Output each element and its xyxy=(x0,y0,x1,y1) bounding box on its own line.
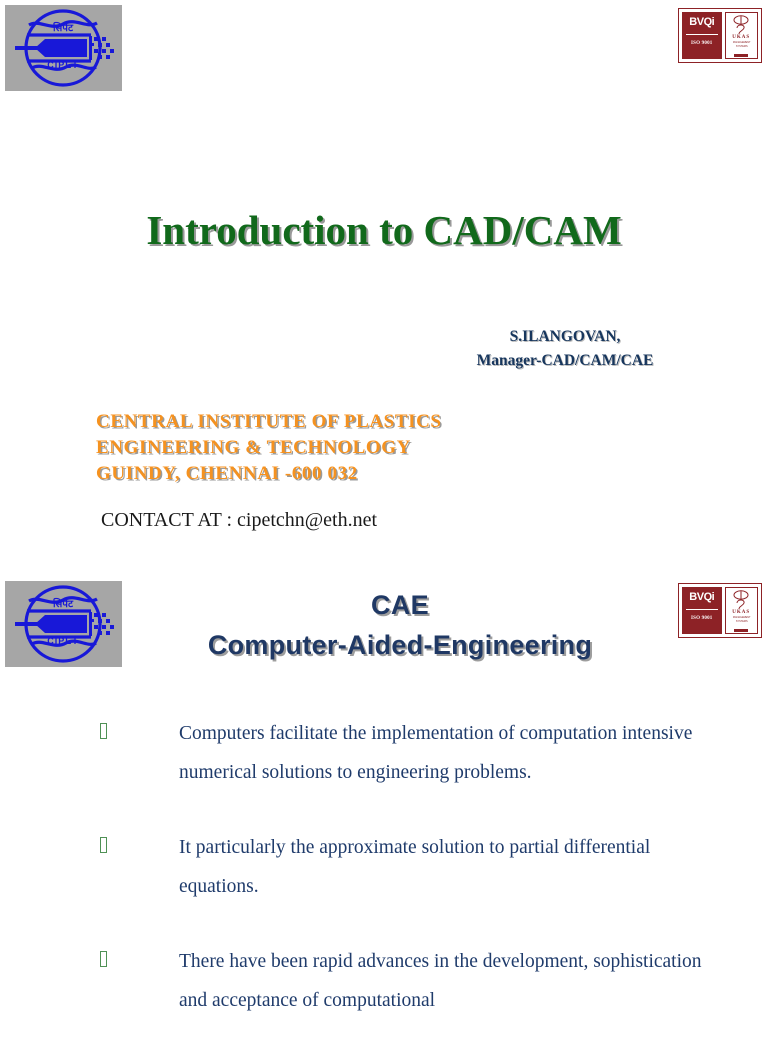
cipet-logo-top: सिपेट CIPET xyxy=(5,5,122,91)
list-item: There have been rapid advances in the de… xyxy=(0,942,768,1020)
bvqi-divider xyxy=(686,34,718,35)
slide2-heading-line-1: CAE xyxy=(134,586,666,626)
list-item: Computers facilitate the implementation … xyxy=(0,714,768,792)
bullet-marker-icon xyxy=(100,942,122,971)
slide2-bullet-list: Computers facilitate the implementation … xyxy=(0,714,768,1056)
ukas-sublabel: MANAGEMENT SYSTEMS xyxy=(726,41,756,48)
slide2-heading-line-2: Computer-Aided-Engineering xyxy=(134,626,666,666)
institute-line-1: CENTRAL INSTITUTE OF PLASTICS xyxy=(96,409,442,435)
institute-line-2: ENGINEERING & TECHNOLOGY xyxy=(96,435,442,461)
institute-line-3: GUINDY, CHENNAI -600 032 xyxy=(96,461,442,487)
ukas-number-bar-bottom xyxy=(734,629,748,632)
bvqi-brand-text-bottom: BVQi xyxy=(689,592,714,603)
ukas-crown-icon-bottom xyxy=(729,590,753,610)
cipet-logo-artwork-bottom: सिपेट CIPET xyxy=(5,581,122,667)
bvqi-brand-text: BVQi xyxy=(689,17,714,28)
ukas-sublabel-bottom: MANAGEMENT SYSTEMS xyxy=(726,616,756,623)
bullet-text: Computers facilitate the implementation … xyxy=(179,714,718,792)
contact-line: CONTACT AT : cipetchn@eth.net xyxy=(101,509,377,532)
author-block: S.ILANGOVAN, Manager-CAD/CAM/CAE xyxy=(400,325,730,373)
bvqi-brand-panel: BVQi ISO 9001 xyxy=(682,12,722,59)
cipet-logo-script-text-bottom: सिपेट xyxy=(52,597,74,610)
slide2-heading: CAE Computer-Aided-Engineering xyxy=(134,586,666,666)
institute-address-block: CENTRAL INSTITUTE OF PLASTICS ENGINEERIN… xyxy=(96,409,442,488)
presentation-title: Introduction to CAD/CAM xyxy=(0,206,768,254)
bvqi-iso-logo-bottom: BVQi ISO 9001 UKAS MANAGEMENT SYSTEMS xyxy=(678,583,762,638)
author-name: S.ILANGOVAN, xyxy=(400,325,730,349)
bvqi-brand-panel-bottom: BVQi ISO 9001 xyxy=(682,587,722,634)
ukas-label-bottom: UKAS xyxy=(732,610,750,615)
ukas-accreditation-panel-bottom: UKAS MANAGEMENT SYSTEMS xyxy=(725,587,758,634)
bullet-marker-icon xyxy=(100,828,122,857)
ukas-label: UKAS xyxy=(732,35,750,40)
ukas-crown-icon xyxy=(729,15,753,35)
bullet-text: There have been rapid advances in the de… xyxy=(179,942,718,1020)
bullet-marker-icon xyxy=(100,714,122,743)
list-item: It particularly the approximate solution… xyxy=(0,828,768,906)
ukas-accreditation-panel: UKAS MANAGEMENT SYSTEMS xyxy=(725,12,758,59)
cipet-logo-bottom: सिपेट CIPET xyxy=(5,581,122,667)
iso-standard-text: ISO 9001 xyxy=(691,41,712,46)
iso-standard-text-bottom: ISO 9001 xyxy=(691,616,712,621)
cipet-logo-latin-text: CIPET xyxy=(47,60,79,70)
author-role: Manager-CAD/CAM/CAE xyxy=(400,349,730,373)
cipet-logo-script-text: सिपेट xyxy=(52,21,74,34)
bvqi-divider-bottom xyxy=(686,609,718,610)
bullet-text: It particularly the approximate solution… xyxy=(179,828,718,906)
cipet-logo-latin-text-bottom: CIPET xyxy=(47,636,79,646)
bvqi-iso-logo-top: BVQi ISO 9001 UKAS MANAGEMENT SYSTEMS xyxy=(678,8,762,63)
cipet-logo-artwork: सिपेट CIPET xyxy=(5,5,122,91)
ukas-number-bar xyxy=(734,54,748,57)
